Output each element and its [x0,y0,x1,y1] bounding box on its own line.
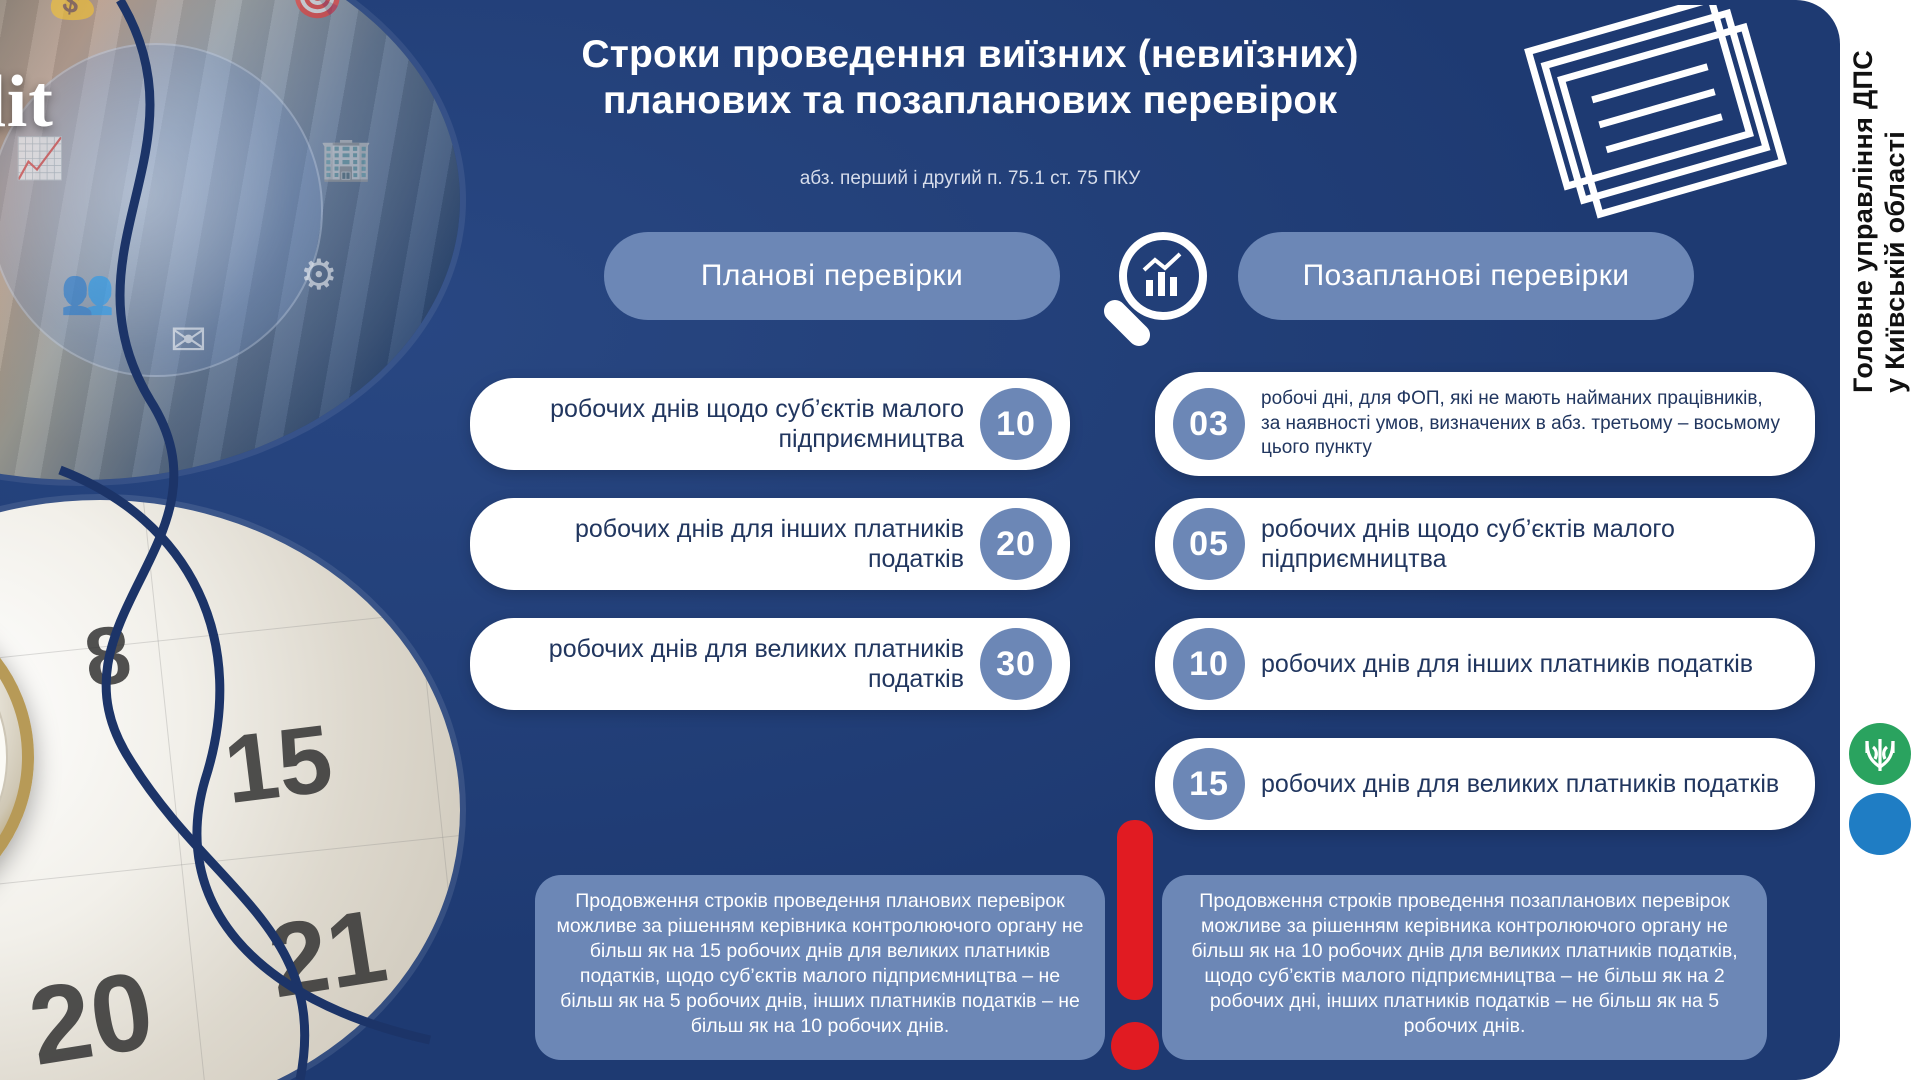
stacked-documents-icon [1520,5,1790,220]
trident-glyph [1849,723,1911,785]
unplanned-card-badge: 03 [1173,388,1245,460]
page-title-line2: планових та позапланових перевірок [560,78,1380,124]
target-icon: 🎯 [290,0,345,22]
building-icon: 🏢 [320,135,372,184]
money-bag-icon: 💰 [45,0,100,22]
unplanned-card-badge: 10 [1173,628,1245,700]
infographic-poster: 💰 👤 🎯 📈 🏢 👥 ⚙ ✉ Audit 8 15 21 20 12 3 6 … [0,0,1920,1080]
page-title: Строки проведення виїзних (невиїзних) пл… [560,32,1380,124]
unplanned-card: 03 робочі дні, для ФОП, які не мають най… [1155,372,1815,476]
unplanned-note: Продовження строків проведення позаплано… [1162,875,1767,1060]
pocket-watch-calendar-photo: 8 15 21 20 12 3 6 9 [0,500,460,1080]
organization-name: Головне управління ДПС у Київській облас… [1840,50,1920,690]
unplanned-card: 15 робочих днів для великих платників по… [1155,738,1815,830]
envelope-icon: ✉ [170,315,207,366]
tab-planned[interactable]: Планові перевірки [604,232,1060,320]
ukraine-trident-icon [1849,723,1911,785]
planned-note: Продовження строків проведення планових … [535,875,1105,1060]
planned-card-badge: 20 [980,508,1052,580]
calendar-number: 20 [21,946,162,1080]
page-title-line1: Строки проведення виїзних (невиїзних) [560,32,1380,78]
tab-unplanned-label: Позапланові перевірки [1303,259,1630,293]
planned-card: робочих днів для інших платників податкі… [470,498,1070,590]
page-subtitle: абз. перший і другий п. 75.1 ст. 75 ПКУ [560,168,1380,190]
unplanned-card-text: робочих днів щодо суб’єктів малого підпр… [1261,514,1781,575]
unplanned-card-badge: 05 [1173,508,1245,580]
organization-name-text: Головне управління ДПС у Київській облас… [1848,50,1912,393]
calendar-number: 21 [261,887,394,1023]
people-group-icon: 👥 [60,265,115,317]
planned-card-badge: 10 [980,388,1052,460]
unplanned-card-text: робочих днів для інших платників податкі… [1261,649,1753,680]
planned-card: робочих днів щодо суб’єктів малого підпр… [470,378,1070,470]
planned-card-text: робочих днів для великих платників подат… [504,634,964,695]
unplanned-card: 10 робочих днів для інших платників пода… [1155,618,1815,710]
planned-card: робочих днів для великих платників подат… [470,618,1070,710]
blue-circle-logo [1849,793,1911,855]
tab-unplanned[interactable]: Позапланові перевірки [1238,232,1694,320]
exclamation-mark-icon [1105,820,1165,1080]
calendar-number: 15 [219,704,338,826]
gear-icon: ⚙ [300,250,338,299]
unplanned-card-badge: 15 [1173,748,1245,820]
tab-planned-label: Планові перевірки [701,259,963,293]
planned-card-text: робочих днів щодо суб’єктів малого підпр… [504,394,964,455]
audit-word: Audit [0,60,54,145]
planned-card-badge: 30 [980,628,1052,700]
planned-card-text: робочих днів для інших платників податкі… [504,514,964,575]
unplanned-card-text: робочих днів для великих платників подат… [1261,769,1779,800]
magnifier-chart-icon [1085,230,1213,358]
audit-business-photo: 💰 👤 🎯 📈 🏢 👥 ⚙ ✉ Audit [0,0,460,480]
unplanned-card-text: робочі дні, для ФОП, які не мають найман… [1261,387,1781,461]
right-sidebar: Головне управління ДПС у Київській облас… [1840,0,1920,1080]
unplanned-card: 05 робочих днів щодо суб’єктів малого пі… [1155,498,1815,590]
